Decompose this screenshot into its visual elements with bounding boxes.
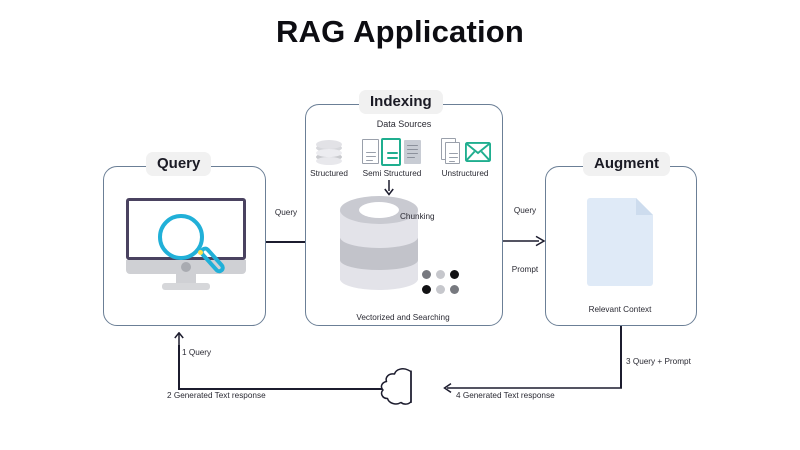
document-stack-front: [445, 142, 460, 164]
flow-line-bottom-left: [178, 388, 382, 390]
connector-label-query-2: Query: [485, 206, 565, 215]
document-grey-right: [404, 140, 421, 164]
vector-store-label: Vectorized and Searching: [304, 313, 502, 322]
panel-query-label: Query: [146, 152, 211, 176]
panel-augment-label: Augment: [583, 152, 670, 176]
dot-2: [436, 270, 445, 279]
database-cylinder-icon: [316, 140, 342, 166]
document-teal-middle: [381, 138, 401, 166]
chunking-label: Chunking: [400, 212, 490, 221]
flow-label-3: 3 Query + Prompt: [626, 357, 716, 366]
flow-label-2: 2 Generated Text response: [167, 391, 327, 400]
dot-3: [450, 270, 459, 279]
document-icon: [587, 198, 653, 286]
cloud-icon: [378, 368, 422, 406]
cylinder-top-2: [316, 149, 342, 157]
dot-1: [422, 270, 431, 279]
connector-label-query: Query: [246, 208, 326, 217]
dot-4: [422, 285, 431, 294]
flow-label-1: 1 Query: [182, 348, 262, 357]
monitor-button: [181, 262, 191, 272]
data-sources-title: Data Sources: [305, 120, 503, 130]
panel-indexing-label: Indexing: [359, 90, 443, 114]
dot-5: [436, 285, 445, 294]
connector-query-indexing: [266, 241, 305, 243]
cylinder-hole: [359, 202, 399, 218]
flow-label-4: 4 Generated Text response: [456, 391, 616, 400]
source-label-semi-structured: Semi Structured: [352, 169, 432, 178]
source-label-unstructured: Unstructured: [425, 169, 505, 178]
magnifier-highlight: [198, 250, 203, 255]
page-title: RAG Application: [0, 14, 800, 50]
flow-line-right-vertical: [620, 326, 622, 388]
document-grey-left: [362, 139, 379, 164]
flow-line-left-vertical: [178, 345, 180, 389]
cylinder-top-1: [316, 140, 342, 149]
vector-database-icon: [340, 196, 418, 288]
flow-down-arrow-icon: [383, 180, 395, 196]
connector-label-prompt: Prompt: [485, 265, 565, 274]
documents-icon: [362, 138, 422, 166]
connector-indexing-augment: [503, 233, 547, 249]
envelope-icon: [465, 142, 491, 162]
monitor-magnifier-icon: [126, 198, 246, 290]
vector-dots-grid: [422, 270, 460, 296]
diagram-canvas: RAG Application Query Indexing Data Sour…: [0, 0, 800, 450]
monitor-base: [162, 283, 210, 290]
dot-6: [450, 285, 459, 294]
cylinder-top-3: [316, 157, 342, 165]
document-envelope-icon: [441, 138, 491, 166]
relevant-context-label: Relevant Context: [570, 305, 670, 314]
